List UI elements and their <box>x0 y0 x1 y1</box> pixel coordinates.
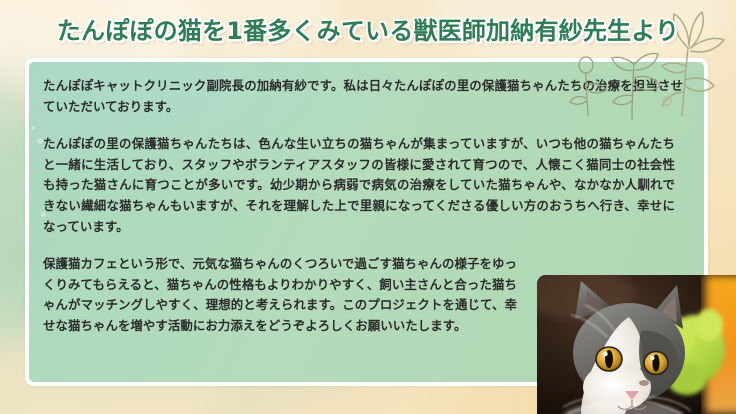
paragraph-request: 保護猫カフェという形で、元気な猫ちゃんのくつろいで過ごす猫ちゃんの様子をゆっくり… <box>43 254 517 336</box>
cat-photo <box>537 275 736 414</box>
cat-photo-image <box>537 275 736 414</box>
slide-canvas: たんぽぽの猫を1番多くみている獣医師加納有紗先生より <box>0 0 736 414</box>
slide-title: たんぽぽの猫を1番多くみている獣医師加納有紗先生より <box>57 11 679 46</box>
slide-title-bar: たんぽぽの猫を1番多くみている獣医師加納有紗先生より <box>0 4 736 52</box>
paragraph-cats: たんぽぽの里の保護猫ちゃんたちは、色んな生い立ちの猫ちゃんが集まっていますが、い… <box>43 134 675 237</box>
paragraph-intro: たんぽぽキャットクリニック副院長の加納有紗です。私は日々たんぽぽの里の保護猫ちゃ… <box>43 76 683 117</box>
